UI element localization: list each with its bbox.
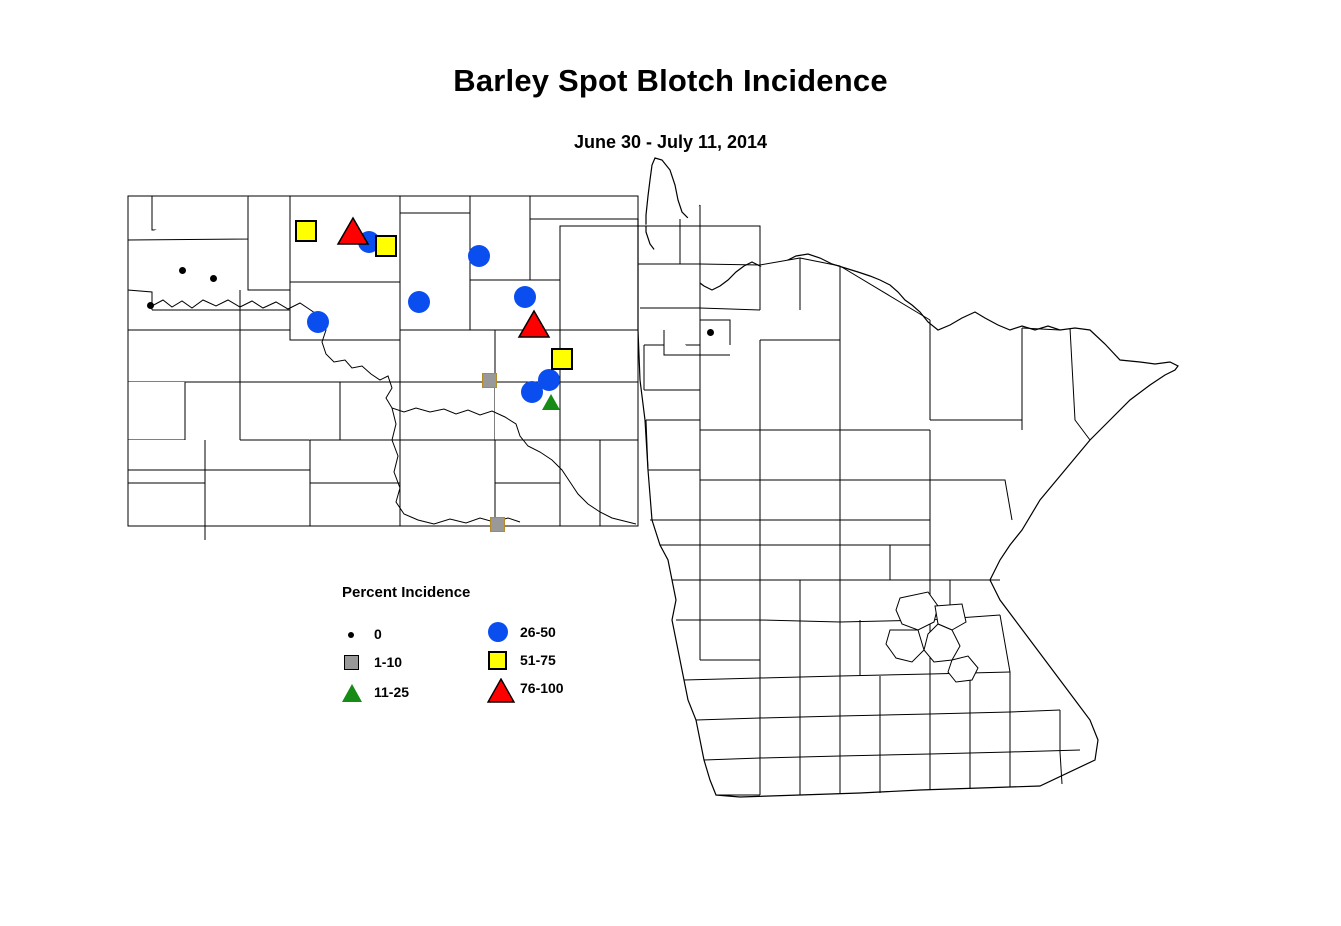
blue-circle-icon xyxy=(486,622,516,644)
marker-incidence-76-100[interactable] xyxy=(336,216,370,246)
minnesota-outline xyxy=(638,158,1178,797)
marker-incidence-0[interactable] xyxy=(147,302,154,309)
legend-item-label: 51-75 xyxy=(520,652,556,668)
marker-incidence-0[interactable] xyxy=(210,275,217,282)
legend-title: Percent Incidence xyxy=(342,584,600,601)
legend-item-label: 0 xyxy=(374,626,382,642)
marker-incidence-1-10[interactable] xyxy=(490,517,505,532)
marker-incidence-51-75[interactable] xyxy=(551,348,573,370)
map-canvas xyxy=(0,0,1341,926)
marker-incidence-76-100[interactable] xyxy=(517,309,551,339)
twin-cities-metro-counties xyxy=(886,592,978,682)
county-map-svg xyxy=(0,0,1341,926)
legend-item-label: 11-25 xyxy=(374,684,409,700)
minnesota-counties xyxy=(638,158,1178,797)
marker-incidence-0[interactable] xyxy=(179,267,186,274)
marker-incidence-26-50[interactable] xyxy=(514,286,536,308)
marker-incidence-11-25[interactable] xyxy=(542,394,560,410)
marker-incidence-26-50[interactable] xyxy=(408,291,430,313)
legend: Percent Incidence 0 1-10 11-25 26-50 51-… xyxy=(340,584,600,714)
marker-incidence-51-75[interactable] xyxy=(375,235,397,257)
marker-incidence-1-10[interactable] xyxy=(482,373,497,388)
yellow-square-icon xyxy=(486,650,516,672)
legend-item-label: 76-100 xyxy=(520,680,564,696)
red-triangle-icon xyxy=(486,678,516,700)
marker-incidence-0[interactable] xyxy=(707,329,714,336)
green-triangle-icon xyxy=(340,682,370,704)
marker-incidence-26-50[interactable] xyxy=(307,311,329,333)
legend-item-label: 1-10 xyxy=(374,654,402,670)
legend-item-label: 26-50 xyxy=(520,624,556,640)
marker-incidence-26-50[interactable] xyxy=(468,245,490,267)
map-figure: Barley Spot Blotch Incidence June 30 - J… xyxy=(0,0,1341,926)
marker-incidence-26-50[interactable] xyxy=(521,381,543,403)
gray-square-icon xyxy=(340,652,370,674)
marker-incidence-51-75[interactable] xyxy=(295,220,317,242)
small-black-dot-icon xyxy=(340,624,370,646)
